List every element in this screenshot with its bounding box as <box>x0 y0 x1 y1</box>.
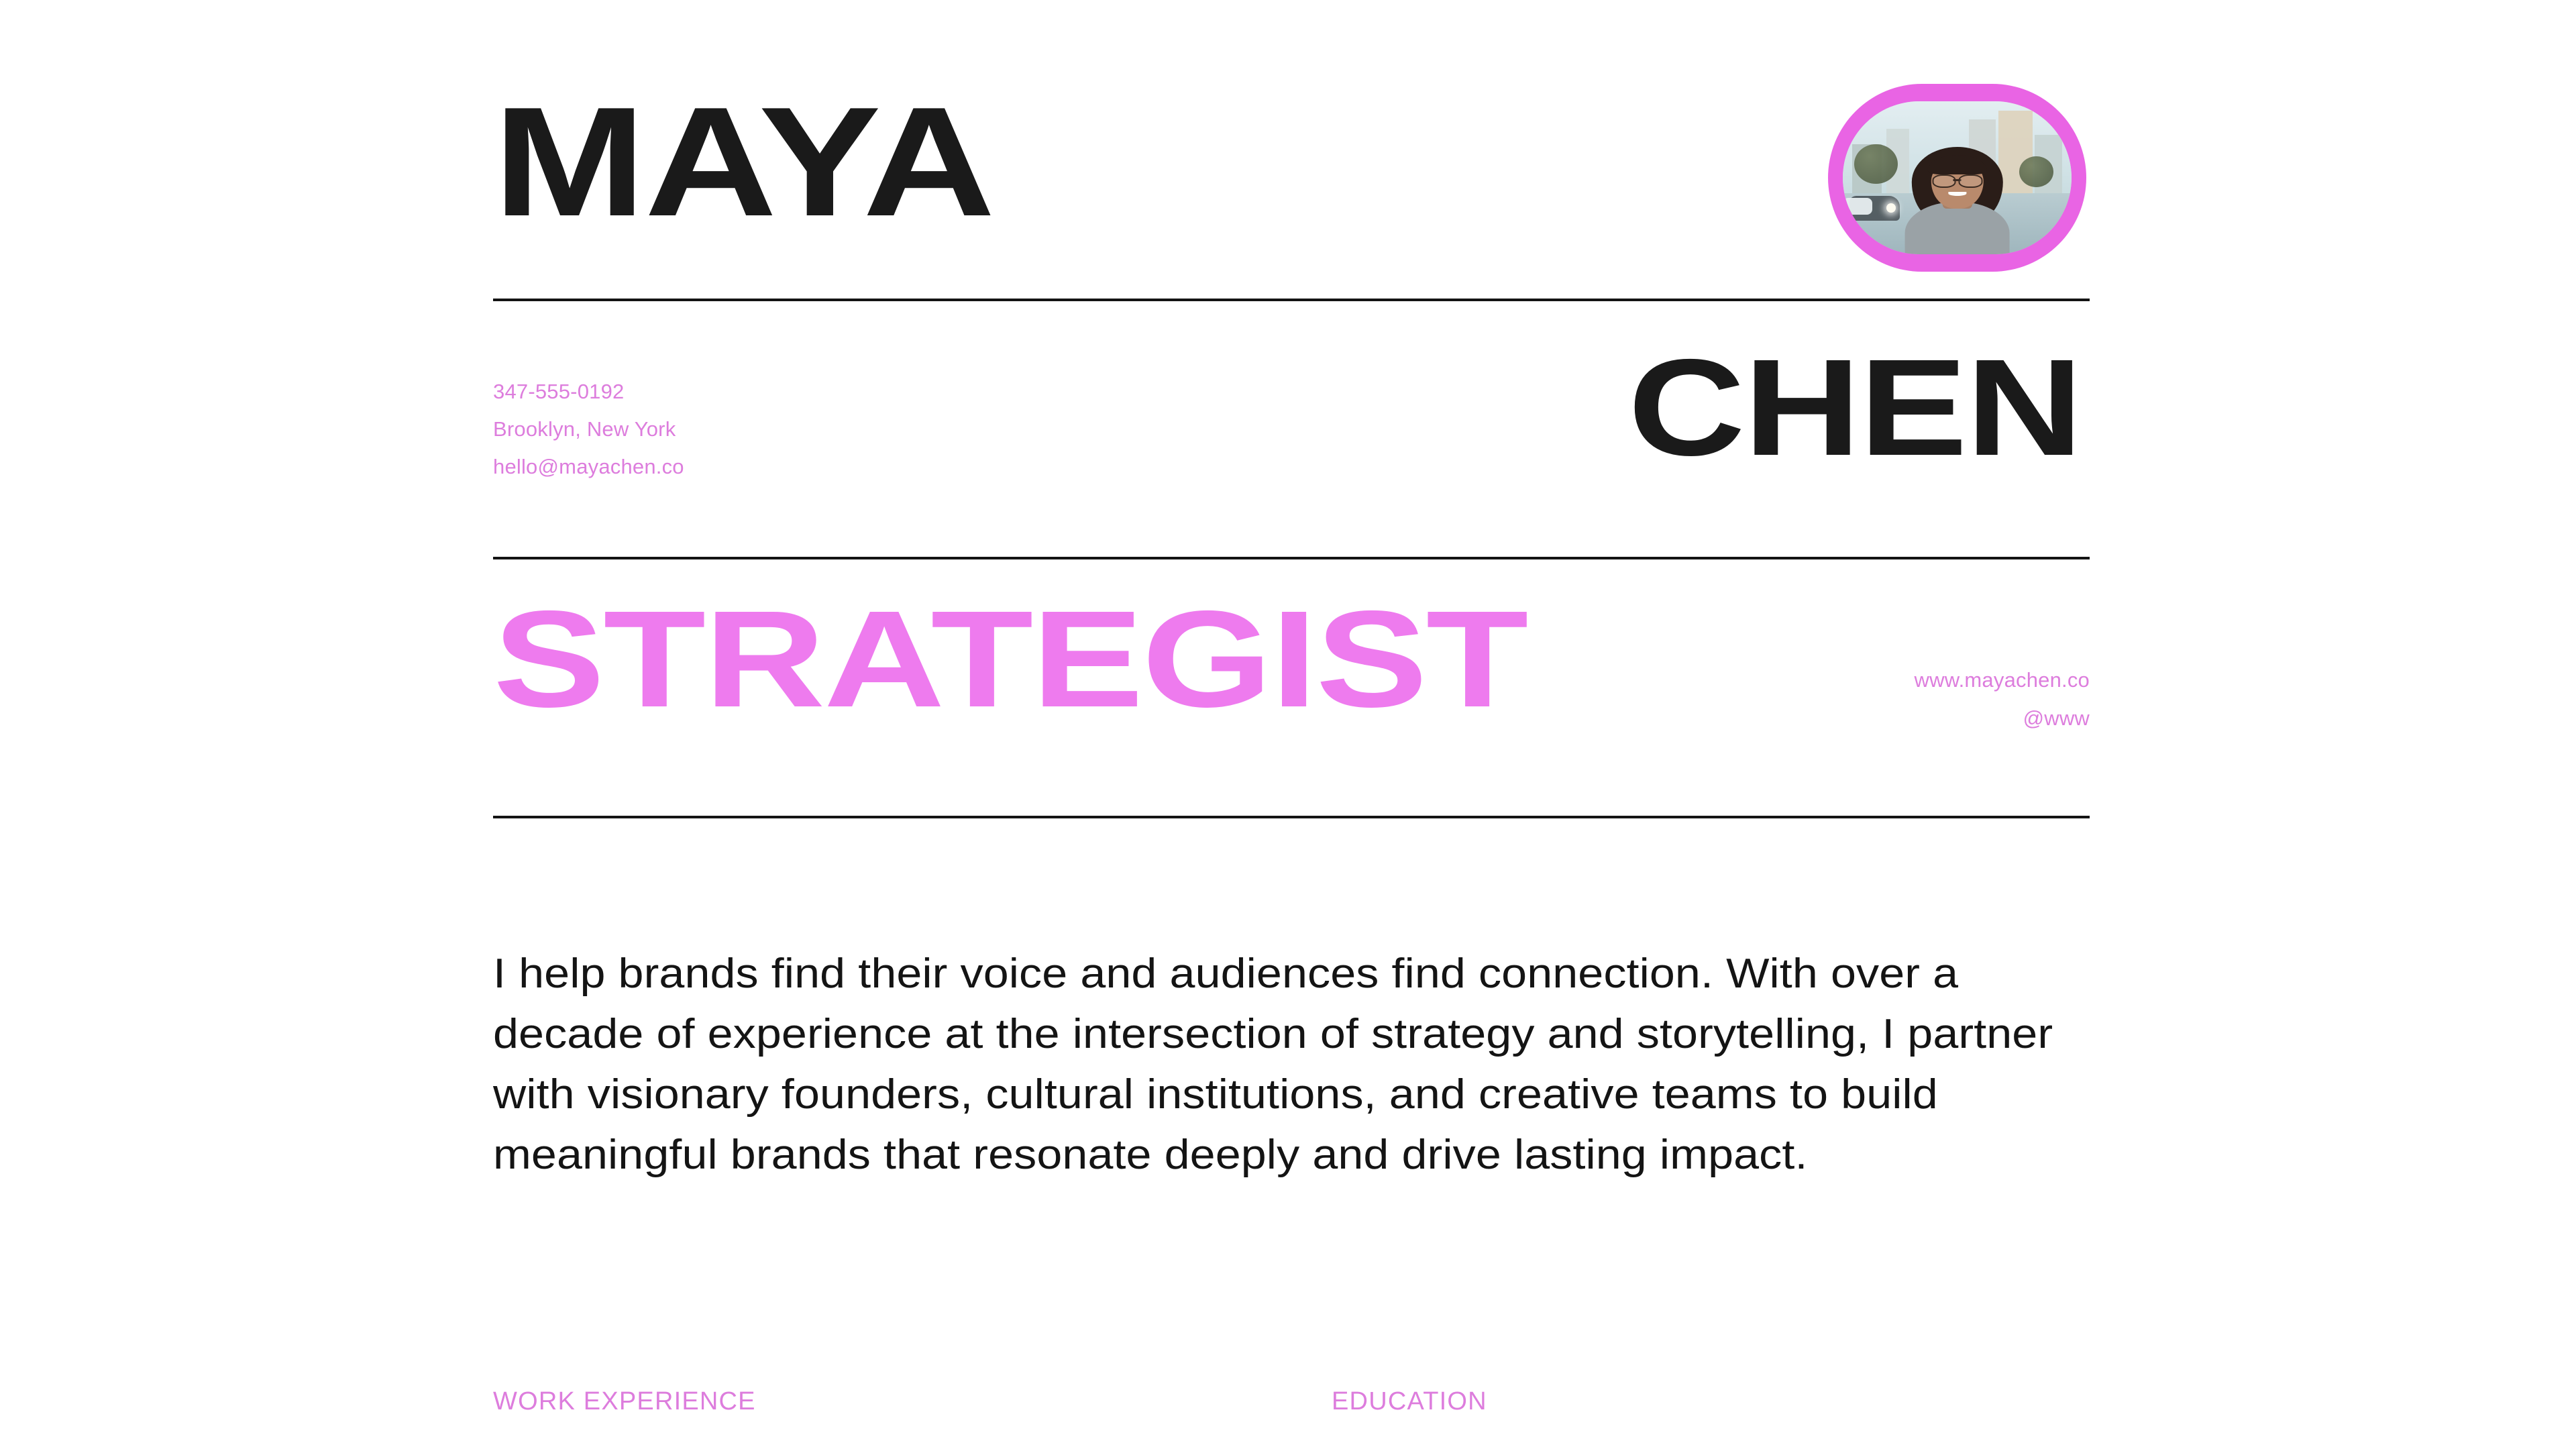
portrait-photo <box>1843 101 2072 254</box>
portrait-frame <box>1828 84 2086 272</box>
section-heading-education: EDUCATION <box>1332 1387 1487 1416</box>
divider-rule-1 <box>493 299 2090 301</box>
bio-paragraph: I help brands find their voice and audie… <box>493 944 2094 1185</box>
photo-tree <box>1854 144 1898 184</box>
photo-smile <box>1948 192 1966 197</box>
role-title-heading: STRATEGIST <box>493 590 1527 728</box>
first-name-heading: MAYA <box>493 85 994 240</box>
contact-phone[interactable]: 347-555-0192 <box>493 373 684 411</box>
social-handle-link[interactable]: @www <box>1915 699 2090 737</box>
contact-location: Brooklyn, New York <box>493 411 684 448</box>
divider-rule-2 <box>493 557 2090 559</box>
photo-lens <box>1959 174 1983 188</box>
resume-page: MAYA 347-555-0192 Brooklyn, New York hel… <box>0 0 2576 1449</box>
photo-lens <box>1932 174 1956 188</box>
last-name-heading: CHEN <box>1628 339 2082 476</box>
website-link[interactable]: www.mayachen.co <box>1915 661 2090 699</box>
divider-rule-3 <box>493 816 2090 818</box>
photo-car <box>1843 198 1872 215</box>
web-links-block: www.mayachen.co @www <box>1915 661 2090 737</box>
photo-glasses <box>1932 174 1982 185</box>
contact-email[interactable]: hello@mayachen.co <box>493 448 684 486</box>
photo-tree <box>2019 156 2053 187</box>
section-heading-work-experience: WORK EXPERIENCE <box>493 1387 756 1416</box>
contact-info-block: 347-555-0192 Brooklyn, New York hello@ma… <box>493 373 684 486</box>
